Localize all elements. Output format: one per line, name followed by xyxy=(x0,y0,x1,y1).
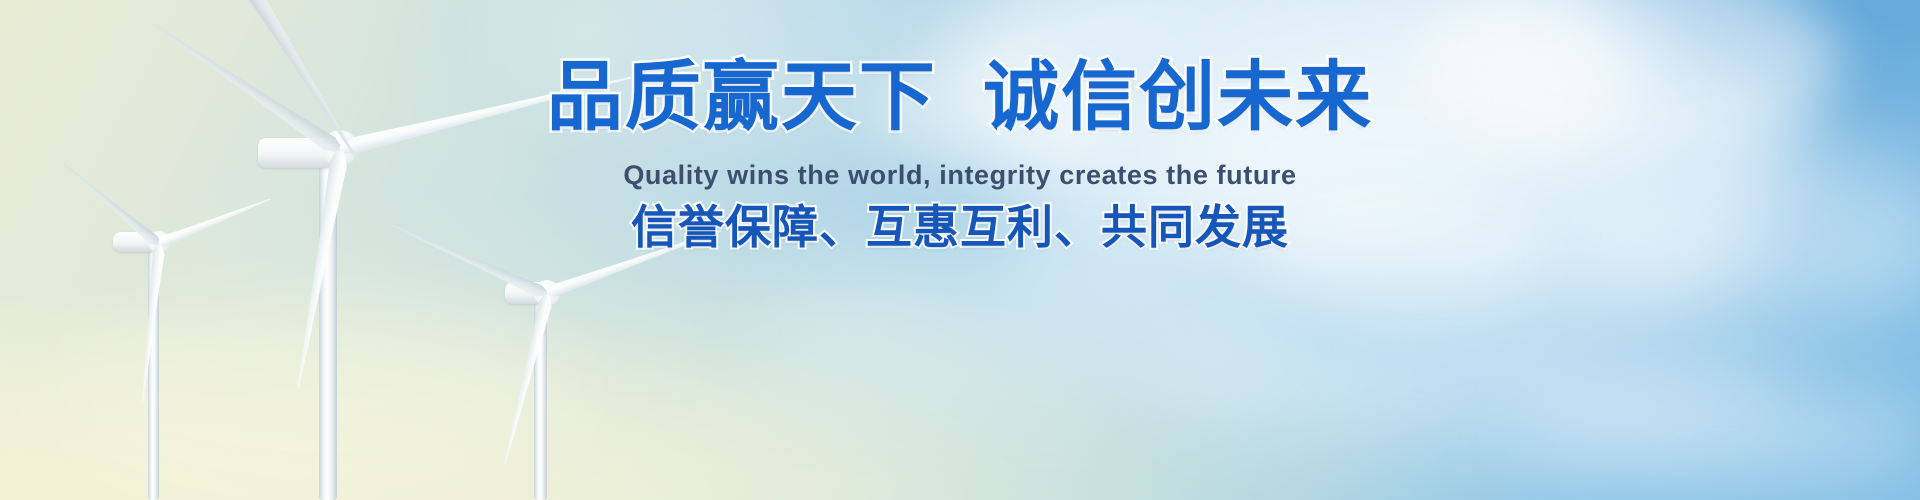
cloud-shape xyxy=(760,250,1280,420)
cloud-shape xyxy=(1250,200,1550,310)
cloud-shape xyxy=(1180,10,1800,290)
promo-banner: 品质赢天下 诚信创未来 Quality wins the world, inte… xyxy=(0,0,1920,500)
sky-warm-gradient xyxy=(0,0,1920,500)
cloud-shape xyxy=(1560,140,1920,330)
cloud-shape xyxy=(1500,380,1920,490)
banner-headline: 品质赢天下 诚信创未来 xyxy=(0,60,1920,136)
cloud-group xyxy=(0,0,1920,500)
cloud-shape xyxy=(860,60,1120,170)
turbine-blade xyxy=(337,66,634,162)
turbine-blade xyxy=(147,14,347,160)
banner-copy: 品质赢天下 诚信创未来 Quality wins the world, inte… xyxy=(0,0,1920,500)
cloud-shape xyxy=(500,0,1020,130)
cloud-shape xyxy=(1420,0,1840,160)
cloud-shape xyxy=(940,0,1640,240)
turbine-blade xyxy=(544,222,724,302)
banner-tagline: 信誉保障、互惠互利、共同发展 xyxy=(0,204,1920,250)
cloud-shape xyxy=(1000,120,1760,370)
cloud-shape xyxy=(1150,330,1790,450)
turbine-blade xyxy=(495,292,556,466)
turbine-blade xyxy=(58,158,164,251)
sky-blue-gradient xyxy=(0,0,1920,500)
turbine-blade xyxy=(388,217,551,303)
turbine-blade xyxy=(156,192,273,252)
